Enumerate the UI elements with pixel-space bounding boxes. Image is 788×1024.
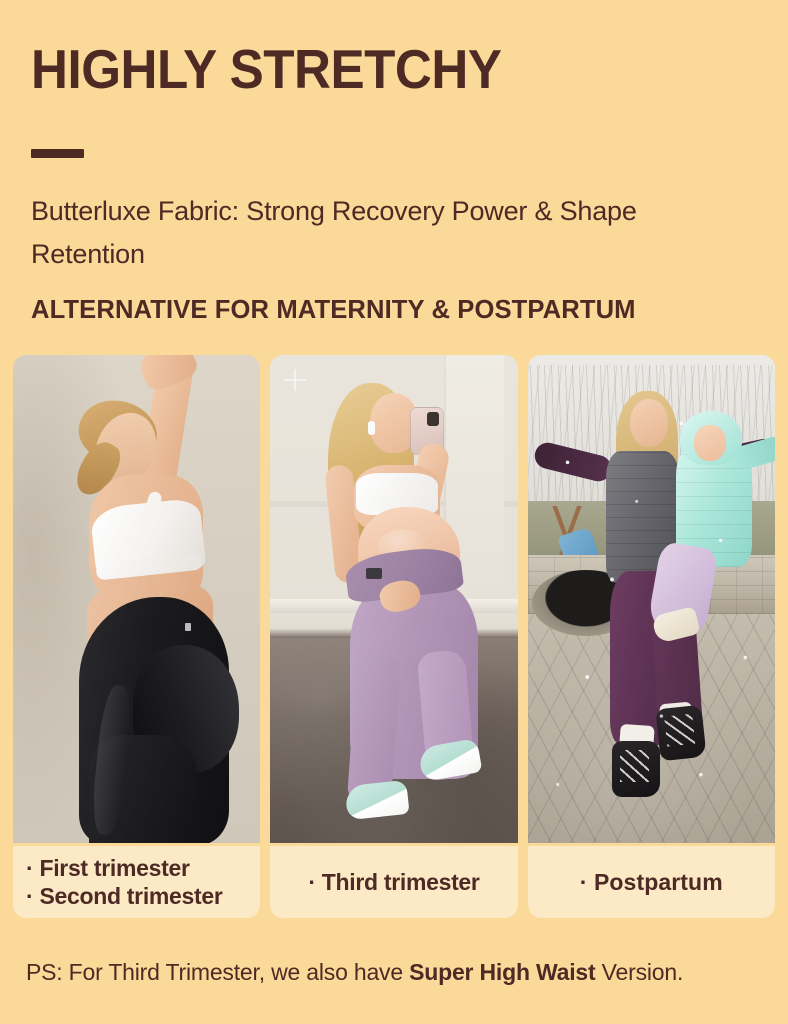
photo-postpartum [528,355,775,843]
footnote-emphasis: Super High Waist [409,959,595,985]
footnote-prefix: PS: For Third Trimester, we also have [26,959,409,985]
footnote-suffix: Version. [595,959,683,985]
caption-line: · Postpartum [580,868,723,896]
brand-tag [366,568,382,579]
model-head [630,399,668,447]
photo-first-trimester [13,355,260,843]
caption-third-trimester: · Third trimester [270,846,517,918]
footnote: PS: For Third Trimester, we also have Su… [26,957,683,987]
photo-third-trimester [270,355,517,843]
photo-panel-grid: · First trimester · Second trimester [13,355,775,918]
caption-line: · First trimester [26,854,190,882]
caption-first-second-trimester: · First trimester · Second trimester [13,846,260,918]
subhead-text: Butterluxe Fabric: Strong Recovery Power… [31,190,691,276]
toddler-face [694,425,726,461]
panel-third-trimester: · Third trimester [270,355,517,918]
sparkle-icon [284,369,306,391]
caption-postpartum: · Postpartum [528,846,775,918]
title-divider [31,149,84,158]
brand-logo-icon [185,623,191,631]
caption-line: · Third trimester [308,868,479,896]
promo-page: HIGHLY STRETCHY Butterluxe Fabric: Stron… [0,0,788,1024]
page-title: HIGHLY STRETCHY [31,38,502,100]
black-boot-front [612,741,660,797]
panel-postpartum: · Postpartum [528,355,775,918]
caption-line: · Second trimester [26,882,223,910]
black-boot-back [655,705,706,762]
panel-first-second-trimester: · First trimester · Second trimester [13,355,260,918]
alternative-heading: ALTERNATIVE FOR MATERNITY & POSTPARTUM [31,294,636,324]
earbud-icon [368,421,375,435]
